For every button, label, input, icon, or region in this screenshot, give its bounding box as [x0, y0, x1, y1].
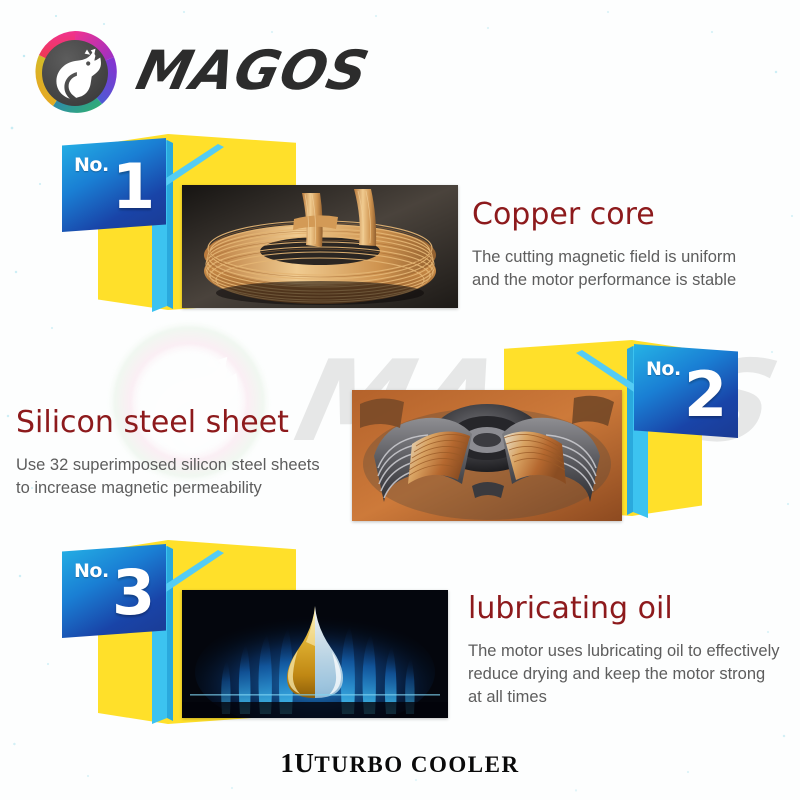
caption-rest: TURBO COOLER	[314, 752, 519, 777]
feature-1-heading: Copper core	[472, 198, 792, 232]
badge-no-2: No. 2	[634, 344, 738, 438]
badge-number-1: 1	[112, 156, 155, 218]
feature-2-body: Use 32 superimposed silicon steel sheets…	[16, 454, 356, 500]
cyan-flap-2	[576, 350, 640, 392]
badge-number-3: 3	[112, 562, 155, 624]
copper-wire-coil-photo	[182, 185, 458, 308]
cyan-flap-3	[160, 550, 224, 592]
feature-1-body-line-2: and the motor performance is stable	[472, 269, 792, 292]
feature-3-heading: lubricating oil	[468, 592, 798, 626]
feature-3-body-line-2: reduce drying and keep the motor strong	[468, 663, 798, 686]
brand-wordmark: MAGOS	[132, 44, 374, 98]
product-caption: 1UTURBO COOLER	[0, 748, 800, 779]
badge-prefix-2: No.	[646, 360, 681, 379]
badge-no-3: No. 3	[62, 544, 166, 638]
infographic-page: MAGOS MAGOS	[0, 0, 800, 800]
brand-header: MAGOS	[0, 0, 800, 120]
feature-3-body-line-3: at all times	[468, 686, 798, 709]
feature-2-text: Silicon steel sheet Use 32 superimposed …	[16, 406, 356, 500]
feature-2-body-line-1: Use 32 superimposed silicon steel sheets	[16, 454, 356, 477]
badge-prefix-3: No.	[74, 562, 109, 581]
feature-3-text: lubricating oil The motor uses lubricati…	[468, 592, 798, 709]
feature-1-body: The cutting magnetic field is uniform an…	[472, 246, 792, 292]
feature-1-body-line-1: The cutting magnetic field is uniform	[472, 246, 792, 269]
feature-2-heading: Silicon steel sheet	[16, 406, 356, 440]
caption-prefix: 1U	[280, 748, 314, 778]
badge-prefix-1: No.	[74, 156, 109, 175]
badge-no-1: No. 1	[62, 138, 166, 232]
lubricating-oil-droplet-photo	[182, 590, 448, 718]
feature-3-body-line-1: The motor uses lubricating oil to effect…	[468, 640, 798, 663]
silicon-steel-stator-photo	[352, 390, 622, 521]
badge-number-2: 2	[684, 364, 727, 426]
feature-1-text: Copper core The cutting magnetic field i…	[472, 198, 792, 292]
cyan-flap-1	[160, 144, 224, 186]
feature-3-body: The motor uses lubricating oil to effect…	[468, 640, 798, 709]
horse-head-rainbow-ring-logo-icon	[30, 28, 120, 118]
feature-2-body-line-2: to increase magnetic permeability	[16, 477, 356, 500]
